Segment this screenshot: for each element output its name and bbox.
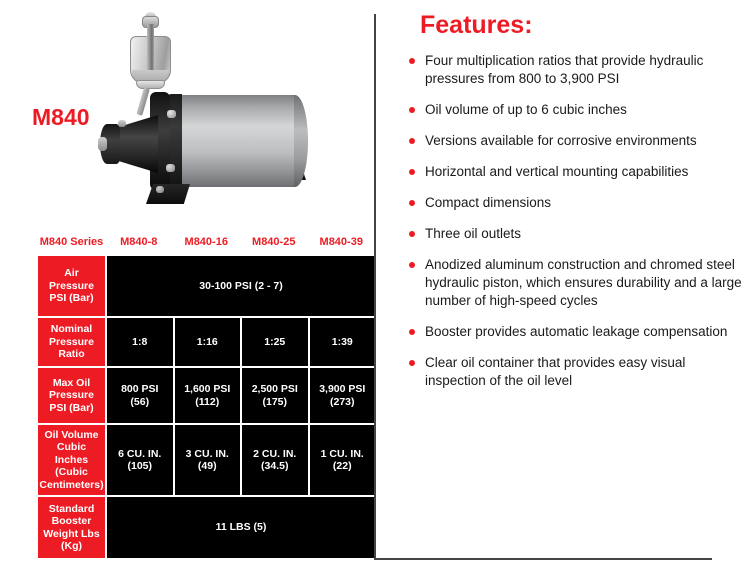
row-label-air-pressure: Air Pressure PSI (Bar) — [38, 256, 105, 318]
row-label-line: Booster — [52, 515, 92, 527]
cell-maxoil-m840-25: 2,500 PSI (175) — [240, 368, 308, 425]
row-label-nominal-ratio: Nominal Pressure Ratio — [38, 318, 105, 368]
bullet-icon — [409, 360, 415, 366]
cell-maxoil-m840-39: 3,900 PSI (273) — [308, 368, 376, 425]
cell-line: 3,900 PSI — [319, 383, 365, 395]
row-label-line: PSI (Bar) — [49, 292, 93, 304]
bullet-icon — [409, 262, 415, 268]
cell-oilvol-m840-25: 2 CU. IN. (34.5) — [240, 425, 308, 497]
row-label-booster-weight: Standard Booster Weight Lbs (Kg) — [38, 497, 105, 558]
cell-oilvol-m840-8: 6 CU. IN. (105) — [105, 425, 173, 497]
row-label-line: (Kg) — [61, 540, 82, 552]
table-row: Air Pressure PSI (Bar) 30-100 PSI (2 - 7… — [38, 256, 375, 318]
cell-ratio-m840-16: 1:16 — [173, 318, 241, 368]
feature-text: Three oil outlets — [425, 226, 521, 241]
cell-line: 3 CU. IN. — [186, 448, 229, 460]
row-label-line: Cubic Inches — [55, 441, 88, 466]
flange-bolt-bottom — [166, 164, 175, 172]
row-label-line: Ratio — [58, 348, 84, 360]
feature-text: Four multiplication ratios that provide … — [425, 53, 703, 86]
feature-text: Versions available for corrosive environ… — [425, 133, 697, 148]
cell-line: 1 CU. IN. — [321, 448, 364, 460]
cell-line: 800 PSI — [121, 383, 158, 395]
table-header-m840-39: M840-39 — [308, 228, 376, 256]
table-row: Nominal Pressure Ratio 1:8 1:16 1:25 1:3… — [38, 318, 375, 368]
bullet-icon — [409, 169, 415, 175]
oil-feed-tube — [136, 87, 149, 116]
booster-illustration — [96, 12, 326, 222]
cell-booster-weight-all: 11 LBS (5) — [105, 497, 375, 558]
row-label-line: Centimeters) — [39, 479, 103, 491]
flange-bolt-top — [167, 110, 176, 118]
foot-bolt — [156, 186, 164, 193]
table-header-series: M840 Series — [38, 228, 105, 256]
feature-item: Horizontal and vertical mounting capabil… — [403, 163, 743, 181]
row-label-line: PSI (Bar) — [49, 402, 93, 414]
cell-ratio-m840-39: 1:39 — [308, 318, 376, 368]
feature-item: Oil volume of up to 6 cubic inches — [403, 101, 743, 119]
row-label-oil-volume: Oil Volume Cubic Inches (Cubic Centimete… — [38, 425, 105, 497]
row-label-line: (Cubic — [55, 466, 88, 478]
cell-line: (273) — [330, 396, 355, 408]
outlet-port — [98, 137, 107, 151]
product-model-label: M840 — [32, 104, 90, 131]
table-row: Standard Booster Weight Lbs (Kg) 11 LBS … — [38, 497, 375, 558]
air-cylinder-body — [169, 95, 294, 187]
cell-ratio-m840-25: 1:25 — [240, 318, 308, 368]
cell-line: (105) — [127, 460, 152, 472]
cell-maxoil-m840-8: 800 PSI (56) — [105, 368, 173, 425]
features-panel: Features: Four multiplication ratios tha… — [375, 0, 753, 579]
feature-text: Booster provides automatic leakage compe… — [425, 324, 727, 339]
cell-line: (34.5) — [261, 460, 288, 472]
feature-item: Three oil outlets — [403, 225, 743, 243]
cell-maxoil-m840-16: 1,600 PSI (112) — [173, 368, 241, 425]
table-header-m840-25: M840-25 — [240, 228, 308, 256]
feature-text: Clear oil container that provides easy v… — [425, 355, 685, 388]
row-label-line: Pressure — [49, 280, 94, 292]
feature-text: Compact dimensions — [425, 195, 551, 210]
bottom-rule — [376, 558, 712, 560]
mounting-foot-left — [146, 184, 190, 204]
cell-ratio-m840-8: 1:8 — [105, 318, 173, 368]
bullet-icon — [409, 107, 415, 113]
feature-text: Oil volume of up to 6 cubic inches — [425, 102, 627, 117]
cell-line: (56) — [130, 396, 149, 408]
row-label-line: Nominal — [51, 323, 92, 335]
feature-item: Booster provides automatic leakage compe… — [403, 323, 743, 341]
table-row: Oil Volume Cubic Inches (Cubic Centimete… — [38, 425, 375, 497]
reservoir-base-cap — [136, 80, 165, 89]
bullet-icon — [409, 231, 415, 237]
feature-item: Versions available for corrosive environ… — [403, 132, 743, 150]
row-label-max-oil-pressure: Max Oil Pressure PSI (Bar) — [38, 368, 105, 425]
bullet-icon — [409, 138, 415, 144]
cell-air-pressure-all: 30-100 PSI (2 - 7) — [105, 256, 375, 318]
cell-line: (175) — [262, 396, 287, 408]
feature-item: Anodized aluminum construction and chrom… — [403, 256, 743, 310]
cell-line: (22) — [333, 460, 352, 472]
feature-item: Four multiplication ratios that provide … — [403, 52, 743, 88]
feature-text: Horizontal and vertical mounting capabil… — [425, 164, 688, 179]
features-list: Four multiplication ratios that provide … — [403, 52, 743, 403]
table-row: Max Oil Pressure PSI (Bar) 800 PSI (56) … — [38, 368, 375, 425]
feature-item: Compact dimensions — [403, 194, 743, 212]
cell-line: 1,600 PSI — [184, 383, 230, 395]
features-heading: Features: — [420, 11, 533, 40]
row-label-line: Max Oil — [53, 377, 90, 389]
table-header-m840-16: M840-16 — [173, 228, 241, 256]
feature-text: Anodized aluminum construction and chrom… — [425, 257, 742, 308]
cell-line: 2 CU. IN. — [253, 448, 296, 460]
cell-line: (49) — [198, 460, 217, 472]
cell-line: 6 CU. IN. — [118, 448, 161, 460]
bullet-icon — [409, 200, 415, 206]
row-label-line: Standard — [49, 503, 95, 515]
product-figure: M840 — [0, 0, 375, 228]
bullet-icon — [409, 329, 415, 335]
table-header-m840-8: M840-8 — [105, 228, 173, 256]
row-label-line: Pressure — [49, 336, 94, 348]
nose-bolt — [118, 120, 126, 127]
cell-oilvol-m840-16: 3 CU. IN. (49) — [173, 425, 241, 497]
row-label-line: Air — [64, 267, 79, 279]
cell-oilvol-m840-39: 1 CU. IN. (22) — [308, 425, 376, 497]
bullet-icon — [409, 58, 415, 64]
left-panel: M840 M840 Series — [0, 0, 375, 579]
table-header-row: M840 Series M840-8 M840-16 M840-25 M840-… — [38, 228, 375, 256]
cell-line: (112) — [195, 396, 219, 408]
row-label-line: Weight Lbs — [43, 528, 99, 540]
specifications-table: M840 Series M840-8 M840-16 M840-25 M840-… — [38, 228, 375, 558]
row-label-line: Oil Volume — [44, 429, 98, 441]
feature-item: Clear oil container that provides easy v… — [403, 354, 743, 390]
row-label-line: Pressure — [49, 389, 94, 401]
cell-line: 2,500 PSI — [252, 383, 298, 395]
